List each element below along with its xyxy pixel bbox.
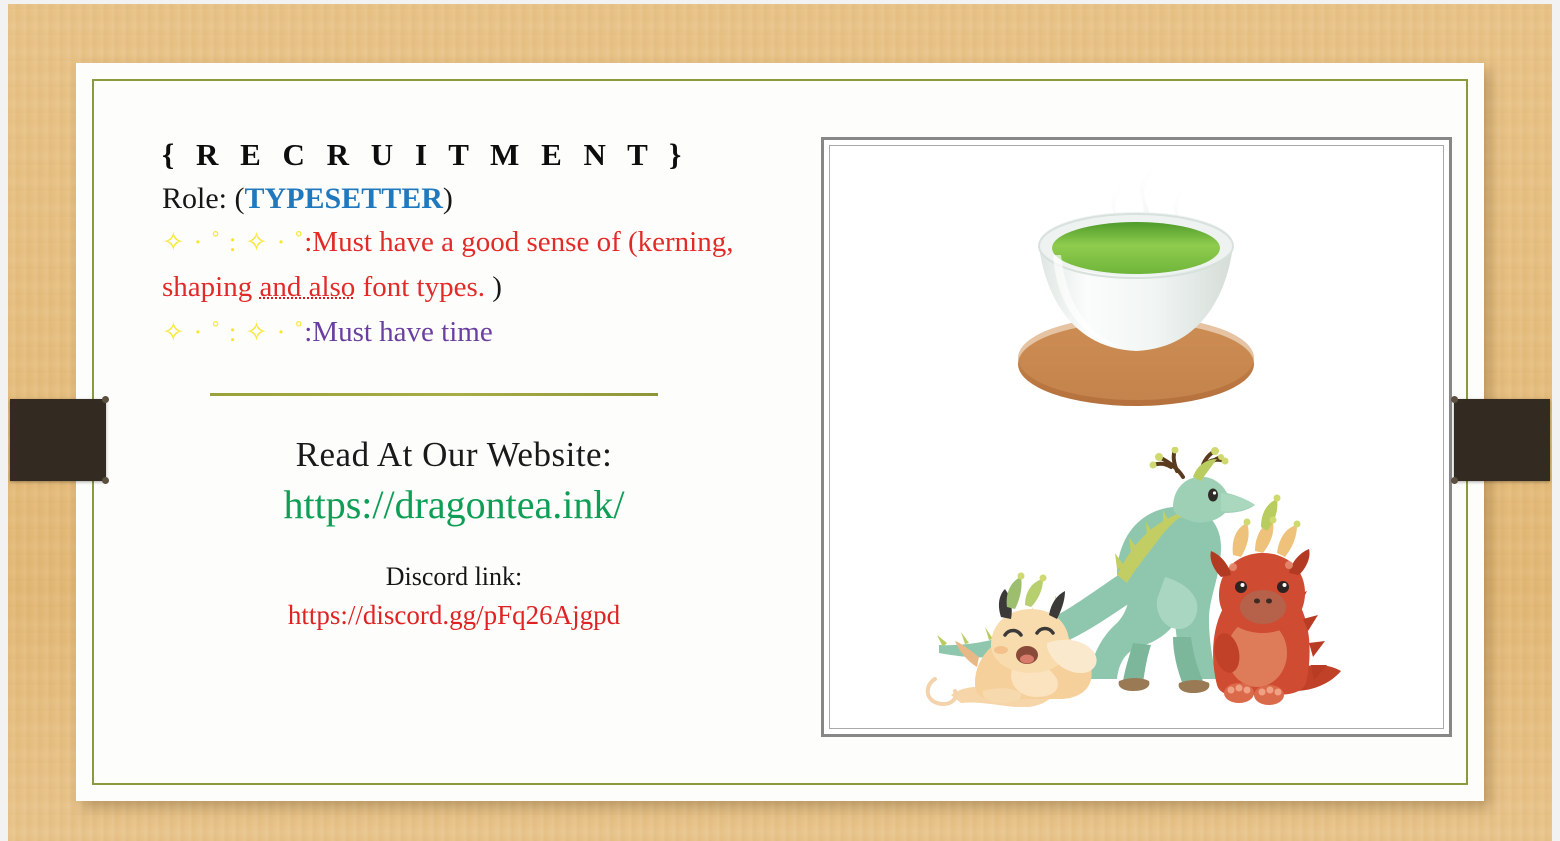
discord-label: Discord link:	[144, 560, 764, 594]
clip-knob-icon	[1451, 477, 1458, 484]
right-image-column	[804, 79, 1468, 785]
role-value: TYPESETTER	[245, 182, 443, 215]
dragon-eye	[1277, 581, 1289, 593]
picture-frame	[821, 137, 1452, 737]
page-edge-top	[0, 0, 1560, 4]
board-clip-right	[1454, 399, 1550, 481]
board-clip-left	[10, 399, 106, 481]
discord-block: Discord link: https://discord.gg/pFq26Aj…	[144, 560, 764, 633]
clip-knob-icon	[102, 396, 109, 403]
requirement-line-1: ✧ · ˚ : ✧ · ˚:Must have a good sense of …	[162, 220, 804, 310]
bullet-1-text-after: font types.	[355, 271, 492, 303]
page-edge-left	[0, 0, 8, 841]
section-divider	[210, 393, 658, 396]
left-text-column: { R E C R U I T M E N T } Role: (TYPESET…	[92, 79, 804, 785]
website-label: Read At Our Website:	[144, 432, 764, 478]
website-url-link[interactable]: https://dragontea.ink/	[144, 480, 764, 530]
sparkle-icon: ✧ · ˚ : ✧ · ˚	[162, 317, 304, 347]
matcha-tea-bowl-icon	[971, 151, 1301, 426]
tea-surface	[1052, 222, 1220, 274]
role-label: Role: (	[162, 182, 245, 215]
picture-canvas	[829, 145, 1444, 729]
slide-card: { R E C R U I T M E N T } Role: (TYPESET…	[76, 63, 1484, 801]
requirement-line-2: ✧ · ˚ : ✧ · ˚:Must have time	[162, 310, 804, 355]
page-title: { R E C R U I T M E N T }	[162, 134, 804, 176]
clip-knob-icon	[1451, 396, 1458, 403]
discord-url-link[interactable]: https://discord.gg/pFq26Ajgpd	[144, 598, 764, 633]
role-line: Role: (TYPESETTER)	[162, 178, 804, 221]
role-close-paren: )	[443, 182, 453, 215]
clip-knob-icon	[102, 477, 109, 484]
dragon-eye	[1235, 581, 1247, 593]
slide-content: { R E C R U I T M E N T } Role: (TYPESET…	[92, 79, 1468, 785]
sparkle-icon: ✧ · ˚ : ✧ · ˚	[162, 227, 304, 257]
bullet-1-misspelled-text: and also	[259, 271, 355, 303]
red-dragon-sitting	[1210, 495, 1341, 706]
website-block: Read At Our Website: https://dragontea.i…	[144, 432, 764, 530]
slide-root: { R E C R U I T M E N T } Role: (TYPESET…	[0, 0, 1560, 841]
page-edge-right	[1552, 0, 1560, 841]
cream-dragon-lying	[928, 573, 1097, 708]
three-dragons-illustration	[921, 447, 1351, 707]
dragon-eye	[1208, 489, 1218, 502]
bullet-2-text: Must have time	[312, 316, 492, 348]
bullet-1-close-paren: )	[492, 271, 502, 303]
